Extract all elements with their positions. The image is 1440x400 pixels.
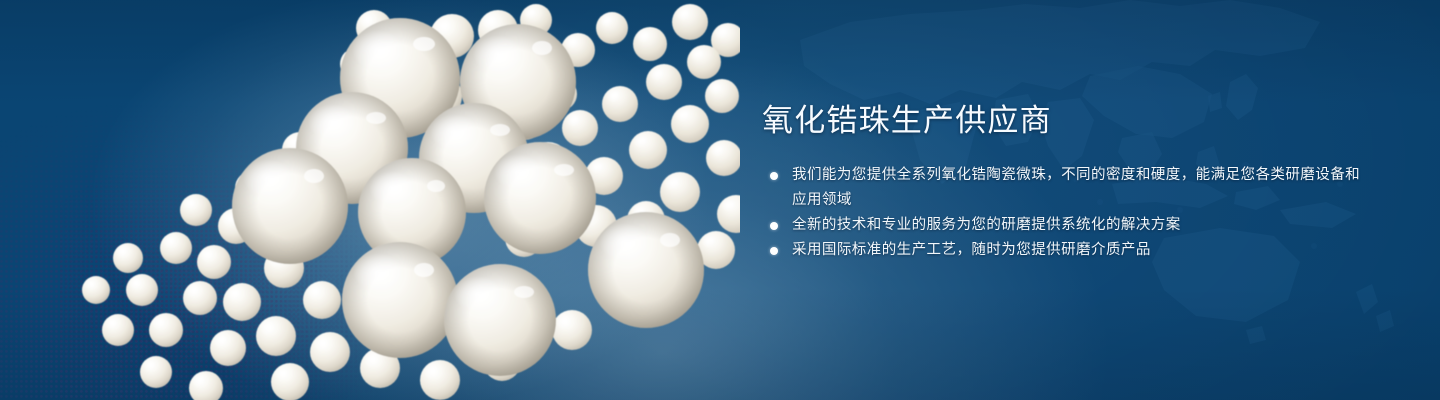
bullet-dot-icon bbox=[770, 172, 778, 180]
banner-copy: 氧化锆珠生产供应商 我们能为您提供全系列氧化锆陶瓷微珠，不同的密度和硬度，能满足… bbox=[762, 104, 1362, 263]
bullet-dot-icon bbox=[770, 247, 778, 255]
feature-list: 我们能为您提供全系列氧化锆陶瓷微珠，不同的密度和硬度，能满足您各类研磨设备和应用… bbox=[762, 163, 1362, 263]
hero-banner: 氧化锆珠生产供应商 我们能为您提供全系列氧化锆陶瓷微珠，不同的密度和硬度，能满足… bbox=[0, 0, 1440, 400]
list-item: 全新的技术和专业的服务为您的研磨提供系统化的解决方案 bbox=[762, 213, 1362, 238]
list-item: 采用国际标准的生产工艺，随时为您提供研磨介质产品 bbox=[762, 238, 1362, 263]
list-item: 我们能为您提供全系列氧化锆陶瓷微珠，不同的密度和硬度，能满足您各类研磨设备和应用… bbox=[762, 163, 1362, 213]
page-title: 氧化锆珠生产供应商 bbox=[762, 104, 1362, 139]
bullet-dot-icon bbox=[770, 222, 778, 230]
list-item-text: 采用国际标准的生产工艺，随时为您提供研磨介质产品 bbox=[792, 242, 1151, 258]
list-item-text: 全新的技术和专业的服务为您的研磨提供系统化的解决方案 bbox=[792, 217, 1181, 233]
list-item-text: 我们能为您提供全系列氧化锆陶瓷微珠，不同的密度和硬度，能满足您各类研磨设备和应用… bbox=[792, 167, 1360, 208]
